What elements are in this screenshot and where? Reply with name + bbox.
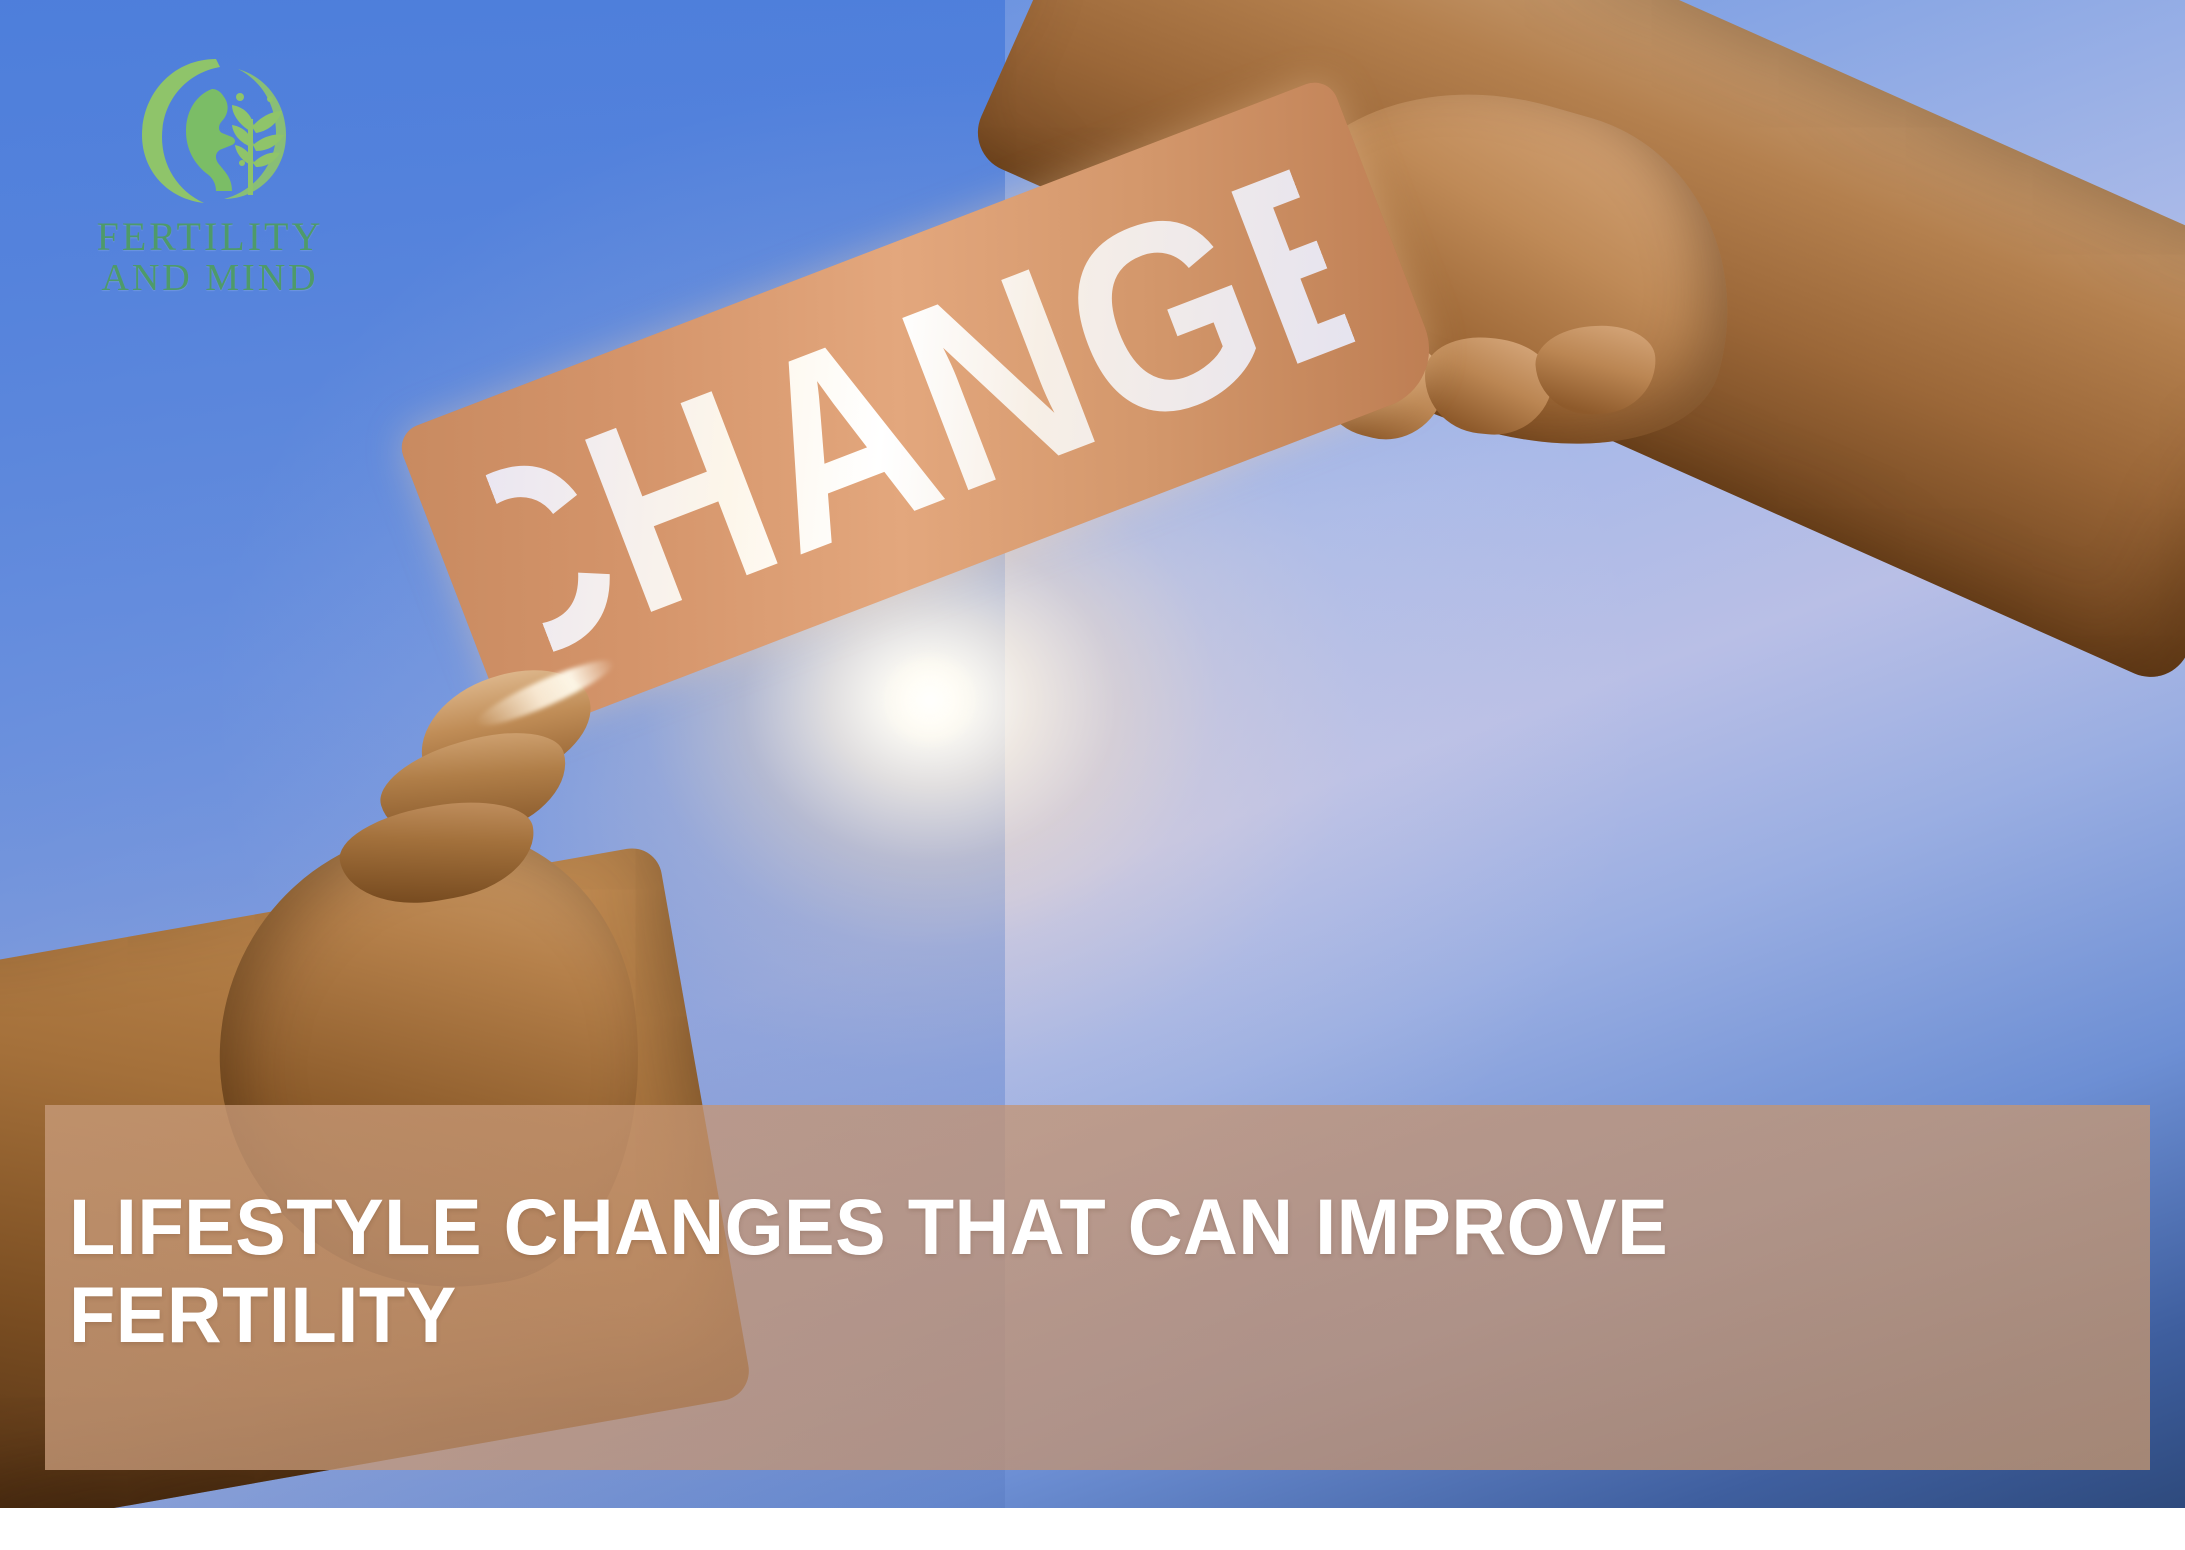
image-canvas: CHANGE: [0, 0, 2185, 1550]
brand-logo[interactable]: FERTILITY AND MIND: [75, 45, 345, 299]
moon-face-tree-icon: [120, 45, 300, 215]
bottom-white-strip: [0, 1508, 2185, 1550]
title-banner: LIFESTYLE CHANGES THAT CAN IMPROVE FERTI…: [45, 1105, 2150, 1470]
page-title-line-2: FERTILITY: [69, 1270, 457, 1359]
page-title: LIFESTYLE CHANGES THAT CAN IMPROVE FERTI…: [69, 1183, 2009, 1360]
page-title-line-1: LIFESTYLE CHANGES THAT CAN IMPROVE: [69, 1182, 1668, 1271]
logo-text-line-2: AND MIND: [75, 258, 345, 299]
logo-text-line-1: FERTILITY: [75, 215, 345, 258]
